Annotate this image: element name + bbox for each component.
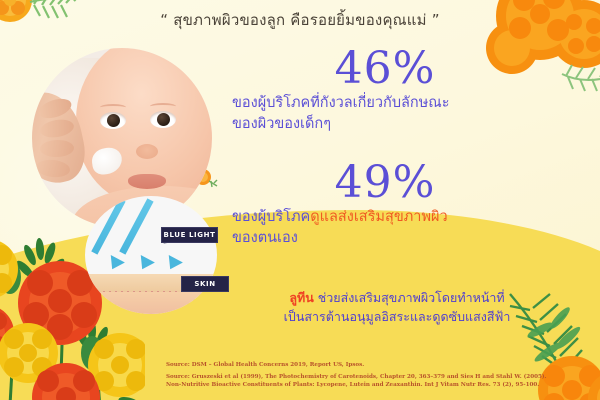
blue-light-arrow-1 xyxy=(105,255,125,273)
skin-dermis-layer xyxy=(85,292,217,314)
statistic-line-2a: ของผู้บริโภคดูแลส่งเสริมสุขภาพผิว xyxy=(232,207,584,228)
lutein-note-line-2: เป็นสารต้านอนุมูลอิสระและดูดซับแสงสีฟ้า xyxy=(232,307,562,326)
sources-block: Source: DSM – Global Health Concerns 201… xyxy=(166,361,586,389)
lutein-note-line-1: ลูทีน ช่วยส่งเสริมสุขภาพผิวโดยทำหน้าที่ xyxy=(232,288,562,307)
source-line-2: Source: Gruszeski et al (1999), The Phot… xyxy=(166,374,586,382)
statistic-line-2b: ของตนเอง xyxy=(232,228,584,249)
statistic-block-1: 46% ของผู้บริโภคที่กังวลเกี่ยวกับลักษณะ … xyxy=(232,46,584,135)
statistic-text-1: ของผู้บริโภคที่กังวลเกี่ยวกับลักษณะ ของผ… xyxy=(232,93,584,135)
page-title: “ สุขภาพผิวของลูก คือรอยยิ้มของคุณแม่ ” xyxy=(0,8,600,32)
statistic-percent-2: 49% xyxy=(186,160,584,206)
baby-eye-right xyxy=(150,111,176,128)
statistic-percent-1: 46% xyxy=(186,46,584,92)
label-skin: SKIN xyxy=(181,276,229,292)
statistic-block-2: 49% ของผู้บริโภคดูแลส่งเสริมสุขภาพผิว ขอ… xyxy=(232,160,584,249)
blue-light-skin-diagram xyxy=(85,196,217,314)
baby-eyebrow-left xyxy=(100,104,126,111)
blue-light-ray-3 xyxy=(119,198,153,254)
label-blue-light: BLUE LIGHT xyxy=(161,227,218,243)
baby-eyebrow-right xyxy=(150,103,176,110)
lutein-note: ลูทีน ช่วยส่งเสริมสุขภาพผิวโดยทำหน้าที่ … xyxy=(232,288,562,326)
blue-light-arrow-3 xyxy=(163,255,183,273)
infographic-poster: “ สุขภาพผิวของลูก คือรอยยิ้มของคุณแม่ ” … xyxy=(0,0,600,400)
source-line-3: Non-Nutritive Bioactive Constituents of … xyxy=(166,382,586,390)
blue-light-arrow-2 xyxy=(135,255,155,273)
statistic-text-2: ของผู้บริโภคดูแลส่งเสริมสุขภาพผิว ของตนเ… xyxy=(232,207,584,249)
statistic-line-1a: ของผู้บริโภคที่กังวลเกี่ยวกับลักษณะ xyxy=(232,93,584,114)
baby-eye-left xyxy=(100,112,126,129)
baby-nose xyxy=(136,144,158,159)
statistic-line-1b: ของผิวของเด็กๆ xyxy=(232,114,584,135)
baby-mouth xyxy=(128,174,166,189)
source-line-1: Source: DSM – Global Health Concerns 201… xyxy=(166,361,586,369)
